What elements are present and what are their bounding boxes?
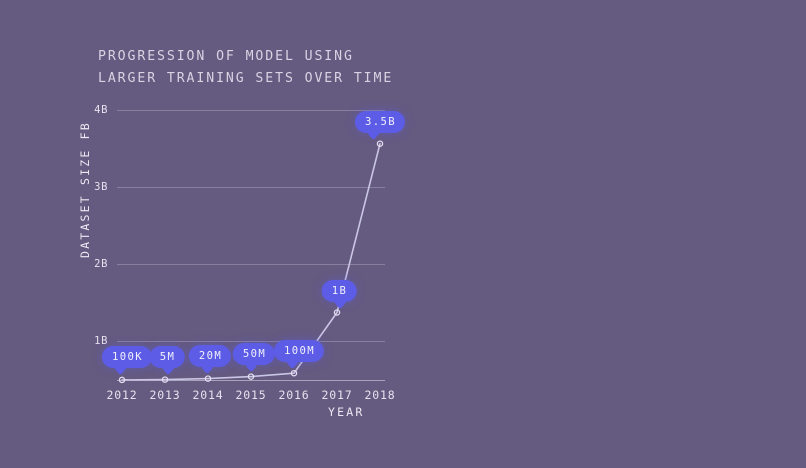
data-label-3-5b[interactable]: 3.5B [355,111,405,133]
x-tick-2017: 2017 [322,388,353,402]
y-tick-1b: 1B [94,335,108,347]
x-tick-2018: 2018 [365,388,396,402]
gridline-4b [117,110,385,111]
screenshot-canvas: PROGRESSION OF MODEL USING LARGER TRAINI… [0,0,806,468]
gridline-3b [117,187,385,188]
chart-panel-dataset-size: PROGRESSION OF MODEL USING LARGER TRAINI… [0,0,410,468]
plot-area-dataset-size: 4B 3B 2B 1B 2012 2013 2014 2015 2016 201… [117,110,380,380]
gridline-1b [117,341,385,342]
data-label-1b[interactable]: 1B [322,280,357,302]
chart-title-dataset-size: PROGRESSION OF MODEL USING LARGER TRAINI… [98,46,393,90]
data-label-5m[interactable]: 5M [150,346,185,368]
y-tick-2b: 2B [94,258,108,270]
data-label-50m[interactable]: 50M [233,343,275,365]
x-tick-2013: 2013 [150,388,181,402]
y-tick-3b: 3B [94,181,108,193]
x-tick-2012: 2012 [107,388,138,402]
x-axis-title-year: YEAR [328,405,365,419]
y-axis-title-dataset-size: DATASET SIZE FB [78,121,92,258]
x-tick-2015: 2015 [236,388,267,402]
y-tick-4b: 4B [94,104,108,116]
x-tick-2014: 2014 [193,388,224,402]
x-axis-line-year [117,380,385,381]
data-label-100k[interactable]: 100K [102,346,152,368]
x-tick-2016: 2016 [279,388,310,402]
data-label-20m[interactable]: 20M [189,345,231,367]
chart-panel-accuracy: TOP 1 ACCURACY IMPROVEMENT ACCURACY (IN … [400,0,806,468]
data-label-100m[interactable]: 100M [274,340,324,362]
gridline-2b [117,264,385,265]
